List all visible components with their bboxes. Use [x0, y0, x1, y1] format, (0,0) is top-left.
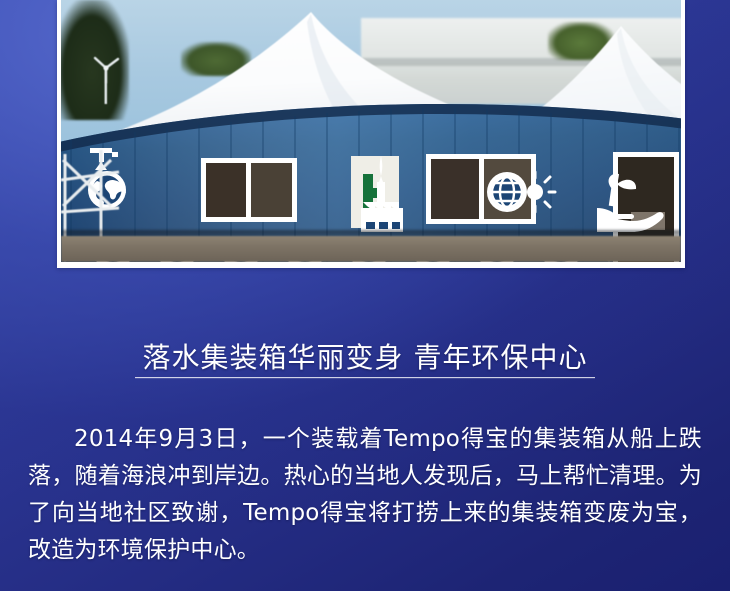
article-body: 2014年9月3日，一个装载着Tempo得宝的集装箱从船上跌落，随着海浪冲到岸边… — [28, 421, 702, 569]
article-page: 落水集装箱华丽变身 青年环保中心 2014年9月3日，一个装载着Tempo得宝的… — [0, 0, 730, 591]
container-window — [201, 158, 297, 222]
page-title: 落水集装箱华丽变身 青年环保中心 — [0, 341, 730, 375]
hero-photo — [61, 0, 681, 262]
photo-frame — [57, 0, 685, 268]
photo-ground — [61, 236, 681, 262]
title-divider — [135, 377, 595, 378]
